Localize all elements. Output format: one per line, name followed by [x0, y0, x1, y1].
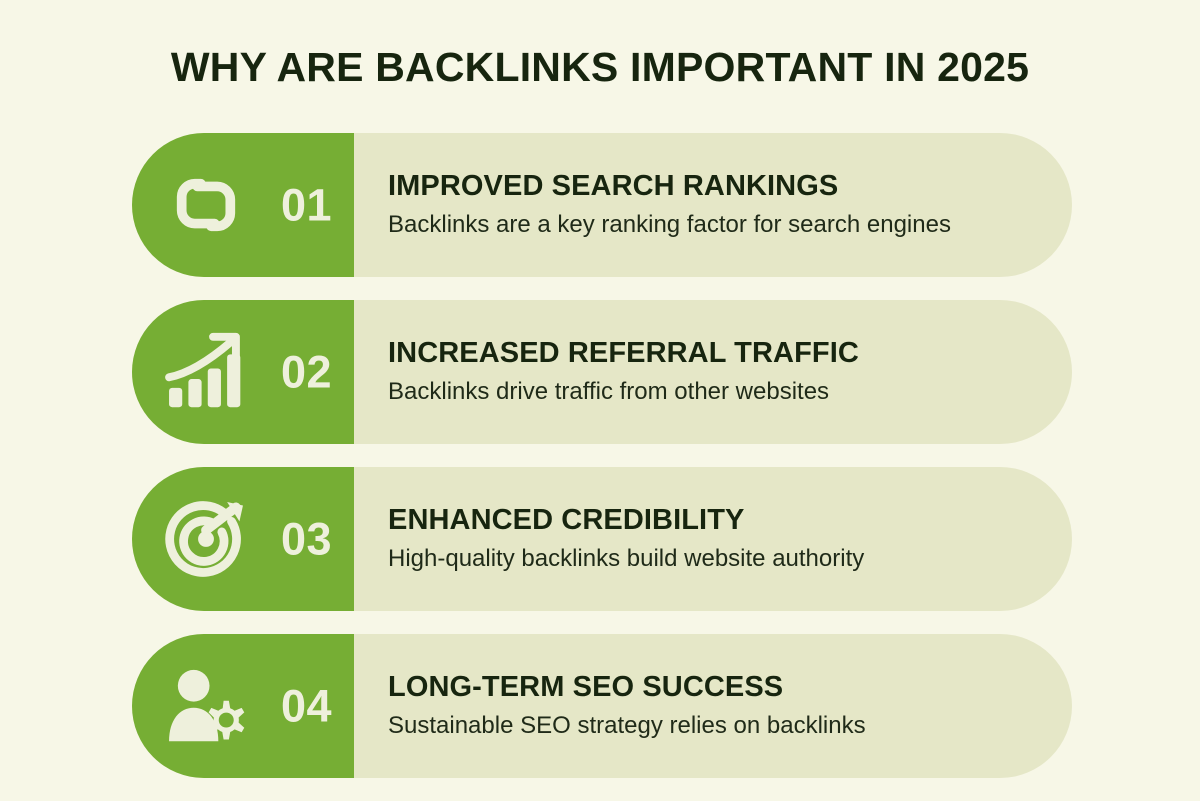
list-item-subtext: Backlinks drive traffic from other websi… — [388, 378, 1032, 407]
benefits-list: 01 IMPROVED SEARCH RANKINGS Backlinks ar… — [132, 133, 1072, 801]
chain-link-icon — [160, 159, 252, 251]
list-item-icon-zone: 02 — [132, 300, 354, 444]
list-item[interactable]: 04 LONG-TERM SEO SUCCESS Sustainable SEO… — [132, 634, 1072, 778]
list-item[interactable]: 02 INCREASED REFERRAL TRAFFIC Backlinks … — [132, 300, 1072, 444]
list-item-heading: INCREASED REFERRAL TRAFFIC — [388, 337, 1032, 369]
list-item-icon-zone: 01 — [132, 133, 354, 277]
person-gear-icon — [160, 660, 252, 752]
list-item[interactable]: 01 IMPROVED SEARCH RANKINGS Backlinks ar… — [132, 133, 1072, 277]
list-item-text: ENHANCED CREDIBILITY High-quality backli… — [354, 467, 1072, 611]
list-item-text: INCREASED REFERRAL TRAFFIC Backlinks dri… — [354, 300, 1072, 444]
list-item-heading: LONG-TERM SEO SUCCESS — [388, 671, 1032, 703]
list-item-subtext: High-quality backlinks build website aut… — [388, 545, 1032, 574]
list-item-subtext: Sustainable SEO strategy relies on backl… — [388, 712, 1032, 741]
list-item-number: 04 — [281, 684, 332, 729]
page-title: WHY ARE BACKLINKS IMPORTANT IN 2025 — [0, 44, 1200, 91]
growth-bar-chart-icon — [160, 326, 252, 418]
target-bullseye-icon — [160, 493, 252, 585]
list-item-icon-zone: 04 — [132, 634, 354, 778]
list-item-subtext: Backlinks are a key ranking factor for s… — [388, 211, 1032, 240]
list-item[interactable]: 03 ENHANCED CREDIBILITY High-quality bac… — [132, 467, 1072, 611]
list-item-icon-zone: 03 — [132, 467, 354, 611]
list-item-heading: IMPROVED SEARCH RANKINGS — [388, 170, 1032, 202]
list-item-number: 01 — [281, 183, 332, 228]
infographic-canvas: WHY ARE BACKLINKS IMPORTANT IN 2025 01 I… — [0, 0, 1200, 800]
list-item-number: 02 — [281, 350, 332, 395]
list-item-text: LONG-TERM SEO SUCCESS Sustainable SEO st… — [354, 634, 1072, 778]
list-item-number: 03 — [281, 517, 332, 562]
list-item-heading: ENHANCED CREDIBILITY — [388, 504, 1032, 536]
list-item-text: IMPROVED SEARCH RANKINGS Backlinks are a… — [354, 133, 1072, 277]
